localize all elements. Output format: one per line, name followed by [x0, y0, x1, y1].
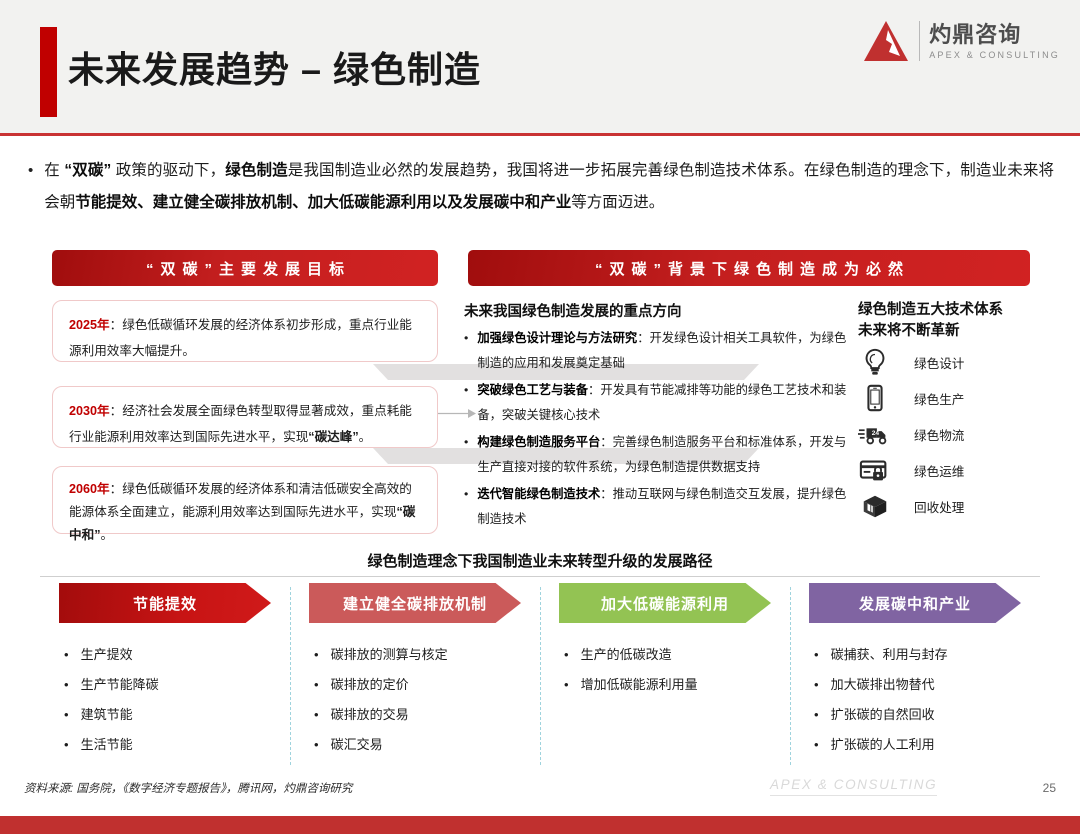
focus-item: • 加强绿色设计理论与方法研究：开发绿色设计相关工具软件，为绿色制造的应用和发展…: [464, 326, 854, 376]
lane-banner: 建立健全碳排放机制: [309, 583, 521, 623]
lane-banner: 加大低碳能源利用: [559, 583, 771, 623]
lane-bullet: •: [64, 730, 69, 760]
tech-row-green-design: 绿色设计: [858, 344, 964, 380]
logo-name-cn: 灼鼎咨询: [929, 22, 1060, 47]
lane-item: •生产的低碳改造: [564, 640, 778, 670]
focus-bullet: •: [464, 482, 468, 532]
header-accent-bar: [40, 27, 57, 117]
package-box-icon: [858, 490, 892, 522]
lane-item: •碳捕获、利用与封存: [814, 640, 1028, 670]
lane-banner: 节能提效: [59, 583, 271, 623]
lane-item-label: 碳排放的交易: [331, 700, 409, 730]
card-lock-icon: [858, 454, 892, 486]
focus-text: 构建绿色制造服务平台：完善绿色制造服务平台和标准体系，开发与生产直接对接的软件系…: [477, 430, 854, 480]
intro-seg-4: 绿色制造: [225, 162, 288, 179]
goal-text-2030-c: 。: [359, 430, 372, 444]
path-lane-carbon-mechanism: 建立健全碳排放机制 •碳排放的测算与核定 •碳排放的定价 •碳排放的交易 •碳汇…: [290, 583, 540, 765]
lane-item-label: 生产提效: [81, 640, 133, 670]
tech-row-green-production: 绿色生产: [858, 380, 964, 416]
focus-item-sep: ：: [600, 487, 612, 501]
focus-item: • 构建绿色制造服务平台：完善绿色制造服务平台和标准体系，开发与生产直接对接的软…: [464, 430, 854, 480]
page-number: 25: [1043, 781, 1056, 795]
lane-item-label: 生活节能: [81, 730, 133, 760]
intro-seg-1: 在: [44, 162, 64, 179]
goal-box-2030: 2030年：经济社会发展全面绿色转型取得显著成效，重点耗能行业能源利用效率达到国…: [52, 386, 438, 448]
lane-bullet: •: [564, 670, 569, 700]
focus-item-bold: 迭代智能绿色制造技术: [477, 487, 600, 501]
lane-item: •扩张碳的人工利用: [814, 730, 1028, 760]
goal-text-2060-c: 。: [100, 528, 113, 542]
brand-logo: 灼鼎咨询 APEX & CONSULTING: [862, 18, 1060, 64]
focus-item: • 迭代智能绿色制造技术：推动互联网与绿色制造交互发展，提升绿色制造技术: [464, 482, 854, 532]
lane-item-label: 碳排放的测算与核定: [331, 640, 448, 670]
lane-bullet: •: [314, 730, 319, 760]
tech-label: 绿色运维: [914, 461, 964, 480]
lane-item: •扩张碳的自然回收: [814, 700, 1028, 730]
path-section-title: 绿色制造理念下我国制造业未来转型升级的发展路径: [0, 550, 1080, 571]
lane-item: •增加低碳能源利用量: [564, 670, 778, 700]
intro-seg-6: 节能提效、建立健全碳排放机制、加大低碳能源利用以及发展碳中和产业: [75, 194, 571, 211]
focus-item: • 突破绿色工艺与装备：开发具有节能减排等功能的绿色工艺技术和装备，突破关键核心…: [464, 378, 854, 428]
goal-sep-1: ：: [110, 318, 123, 332]
lane-bullet: •: [814, 640, 819, 670]
focus-text: 迭代智能绿色制造技术：推动互联网与绿色制造交互发展，提升绿色制造技术: [477, 482, 854, 532]
lane-item: •碳排放的测算与核定: [314, 640, 528, 670]
lane-item: •碳排放的交易: [314, 700, 528, 730]
tech-label: 绿色物流: [914, 425, 964, 444]
focus-item-bold: 加强绿色设计理论与方法研究: [477, 331, 637, 345]
lane-bullet: •: [64, 700, 69, 730]
lane-banner: 发展碳中和产业: [809, 583, 1021, 623]
focus-bullet: •: [464, 378, 468, 428]
lane-item: •生产提效: [64, 640, 278, 670]
focus-item-sep: ：: [588, 383, 600, 397]
tech-title-line1: 绿色制造五大技术体系: [858, 300, 1003, 321]
tech-title-line2: 未来将不断革新: [858, 321, 1003, 342]
path-lane-energy-efficiency: 节能提效 •生产提效 •生产节能降碳 •建筑节能 •生活节能: [40, 583, 290, 765]
goal-year-2060: 2060年: [69, 482, 110, 496]
focus-bullet: •: [464, 326, 468, 376]
focus-text: 突破绿色工艺与装备：开发具有节能减排等功能的绿色工艺技术和装备，突破关键核心技术: [477, 378, 854, 428]
intro-seg-7: 等方面迈进。: [571, 194, 664, 211]
lane-bullet: •: [564, 640, 569, 670]
lane-bullet: •: [814, 700, 819, 730]
focus-item-bold: 构建绿色制造服务平台: [477, 435, 600, 449]
page-title: 未来发展趋势 – 绿色制造: [68, 41, 481, 93]
logo-text: 灼鼎咨询 APEX & CONSULTING: [929, 22, 1060, 60]
focus-direction-title: 未来我国绿色制造发展的重点方向: [464, 300, 682, 321]
lane-item-label: 碳捕获、利用与封存: [831, 640, 948, 670]
lane-item-list: •生产提效 •生产节能降碳 •建筑节能 •生活节能: [52, 640, 278, 760]
intro-seg-3: 政策的驱动下，: [111, 162, 225, 179]
goal-year-2025: 2025年: [69, 318, 110, 332]
left-panel-header: “双碳”主要发展目标: [52, 250, 438, 286]
intro-seg-2: “双碳”: [64, 162, 111, 179]
tech-label: 回收处理: [914, 497, 964, 516]
path-lane-low-carbon-energy: 加大低碳能源利用 •生产的低碳改造 •增加低碳能源利用量: [540, 583, 790, 765]
lane-bullet: •: [814, 730, 819, 760]
slide-root: 未来发展趋势 – 绿色制造 灼鼎咨询 APEX & CONSULTING • 在…: [0, 0, 1080, 834]
lane-item-list: •碳排放的测算与核定 •碳排放的定价 •碳排放的交易 •碳汇交易: [302, 640, 528, 760]
tech-system-title: 绿色制造五大技术体系 未来将不断革新: [858, 300, 1003, 342]
path-lanes: 节能提效 •生产提效 •生产节能降碳 •建筑节能 •生活节能 建立健全碳排放机制…: [40, 583, 1040, 765]
lane-item-label: 碳排放的定价: [331, 670, 409, 700]
lane-item-label: 增加低碳能源利用量: [581, 670, 698, 700]
intro-paragraph: • 在 “双碳” 政策的驱动下，绿色制造是我国制造业必然的发展趋势，我国将进一步…: [28, 155, 1054, 219]
intro-text: 在 “双碳” 政策的驱动下，绿色制造是我国制造业必然的发展趋势，我国将进一步拓展…: [44, 155, 1054, 219]
goal-sep-2: ：: [110, 404, 123, 418]
focus-direction-list: • 加强绿色设计理论与方法研究：开发绿色设计相关工具软件，为绿色制造的应用和发展…: [464, 326, 854, 534]
footer-watermark: APEX & CONSULTING: [770, 777, 937, 796]
lane-bullet: •: [64, 670, 69, 700]
lane-item-list: •生产的低碳改造 •增加低碳能源利用量: [552, 640, 778, 700]
goal-box-2060: 2060年：绿色低碳循环发展的经济体系和清洁低碳安全高效的能源体系全面建立，能源…: [52, 466, 438, 534]
svg-text:24: 24: [872, 430, 880, 437]
lane-item-label: 碳汇交易: [331, 730, 383, 760]
tech-system-list: 绿色设计 绿色生产 24: [858, 344, 964, 524]
goal-year-2030: 2030年: [69, 404, 110, 418]
lane-bullet: •: [64, 640, 69, 670]
tech-label: 绿色生产: [914, 389, 964, 408]
focus-item-bold: 突破绿色工艺与装备: [477, 383, 588, 397]
footer-bar: [0, 816, 1080, 834]
logo-name-en: APEX & CONSULTING: [929, 50, 1060, 60]
lane-bullet: •: [314, 700, 319, 730]
lane-item: •碳汇交易: [314, 730, 528, 760]
right-panel-header: “双碳”背景下绿色制造成为必然: [468, 250, 1030, 286]
tech-row-recycling: 回收处理: [858, 488, 964, 524]
lane-item-label: 扩张碳的人工利用: [831, 730, 935, 760]
smartphone-icon: [858, 382, 892, 414]
lane-item-label: 建筑节能: [81, 700, 133, 730]
lane-item-label: 生产的低碳改造: [581, 640, 672, 670]
lane-bullet: •: [814, 670, 819, 700]
tech-label: 绿色设计: [914, 353, 964, 372]
tech-row-green-maintenance: 绿色运维: [858, 452, 964, 488]
lane-item-label: 扩张碳的自然回收: [831, 700, 935, 730]
focus-item-sep: ：: [600, 435, 612, 449]
intro-bullet: •: [28, 155, 33, 219]
delivery-truck-24-icon: 24: [858, 418, 892, 450]
header-divider: [0, 133, 1080, 136]
logo-divider: [919, 21, 920, 61]
lightbulb-icon: [858, 346, 892, 378]
lane-item: •生活节能: [64, 730, 278, 760]
apex-triangle-icon: [862, 18, 910, 64]
goal-sep-3: ：: [110, 482, 123, 496]
source-note: 资料来源: 国务院，《数字经济专题报告》，腾讯网，灼鼎咨询研究: [24, 780, 352, 796]
focus-item-sep: ：: [637, 331, 649, 345]
lane-bullet: •: [314, 670, 319, 700]
lane-item-list: •碳捕获、利用与封存 •加大碳排出物替代 •扩张碳的自然回收 •扩张碳的人工利用: [802, 640, 1028, 760]
lane-item-label: 生产节能降碳: [81, 670, 159, 700]
lane-item: •加大碳排出物替代: [814, 670, 1028, 700]
lane-item: •生产节能降碳: [64, 670, 278, 700]
lane-bullet: •: [314, 640, 319, 670]
tech-row-green-logistics: 24 绿色物流: [858, 416, 964, 452]
goal-text-2030-b: “碳达峰”: [308, 430, 358, 444]
goal-box-2025: 2025年：绿色低碳循环发展的经济体系初步形成，重点行业能源利用效率大幅提升。: [52, 300, 438, 362]
lane-item: •建筑节能: [64, 700, 278, 730]
lane-item: •碳排放的定价: [314, 670, 528, 700]
focus-text: 加强绿色设计理论与方法研究：开发绿色设计相关工具软件，为绿色制造的应用和发展奠定…: [477, 326, 854, 376]
lane-item-label: 加大碳排出物替代: [831, 670, 935, 700]
path-lane-carbon-neutral-industry: 发展碳中和产业 •碳捕获、利用与封存 •加大碳排出物替代 •扩张碳的自然回收 •…: [790, 583, 1040, 765]
focus-bullet: •: [464, 430, 468, 480]
path-section-divider: [40, 576, 1040, 577]
slide-header: 未来发展趋势 – 绿色制造 灼鼎咨询 APEX & CONSULTING: [0, 0, 1080, 133]
